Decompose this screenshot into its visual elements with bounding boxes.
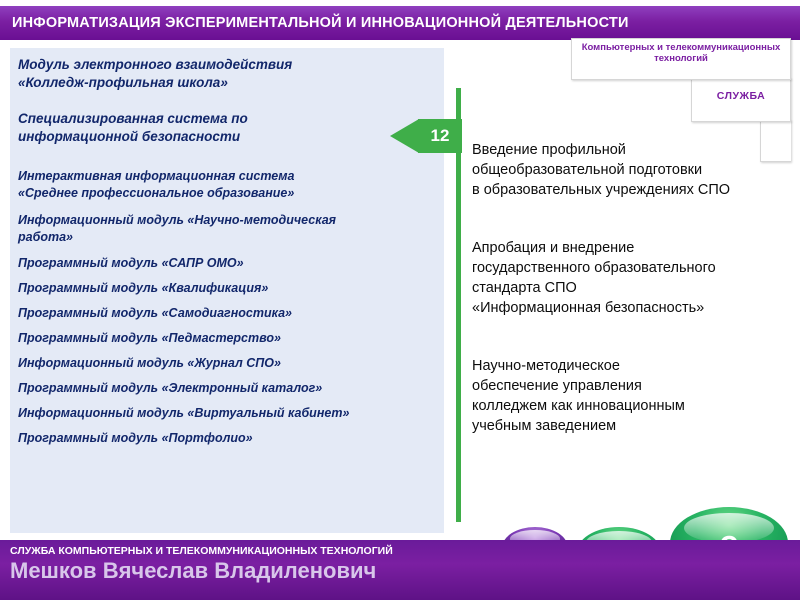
- goal-item: Научно-методическое обеспечение управлен…: [472, 356, 792, 436]
- goal-item: Введение профильной общеобразовательной …: [472, 140, 792, 200]
- technologies-label: Компьютерных и телекоммуникационных техн…: [572, 39, 790, 64]
- modules-list: Модуль электронного взаимодействия «Колл…: [18, 56, 438, 447]
- list-item: Программный модуль «Самодиагностика»: [18, 305, 438, 322]
- list-item: Информационный модуль «Виртуальный кабин…: [18, 405, 438, 422]
- top-right-box-service: СЛУЖБА: [691, 78, 791, 122]
- goal-item: Апробация и внедрение государственного о…: [472, 238, 792, 318]
- goals-column: Введение профильной общеобразовательной …: [472, 140, 792, 436]
- page-title: ИНФОРМАТИЗАЦИЯ ЭКСПЕРИМЕНТАЛЬНОЙ И ИННОВ…: [0, 15, 629, 31]
- vertical-divider: [456, 88, 461, 522]
- list-item: Программный модуль «Педмастерство»: [18, 330, 438, 347]
- list-item: Информационный модуль «Журнал СПО»: [18, 355, 438, 372]
- list-item: Программный модуль «Портфолио»: [18, 430, 438, 447]
- slide-title-bar: ИНФОРМАТИЗАЦИЯ ЭКСПЕРИМЕНТАЛЬНОЙ И ИННОВ…: [0, 6, 800, 40]
- list-item: Программный модуль «САПР ОМО»: [18, 255, 438, 272]
- left-arrow-icon: [390, 119, 419, 153]
- list-item: Интерактивная информационная система «Ср…: [18, 168, 438, 202]
- step-number: 12: [431, 126, 450, 146]
- list-item: Специализированная система по информацио…: [18, 110, 438, 146]
- top-right-box-technologies: Компьютерных и телекоммуникационных техн…: [571, 38, 791, 80]
- list-item: Программный модуль «Квалификация»: [18, 280, 438, 297]
- list-item: Модуль электронного взаимодействия «Колл…: [18, 56, 438, 92]
- footer-author-name: Мешков Вячеслав Владиленович: [10, 558, 376, 584]
- footer-bar: СЛУЖБА КОМПЬЮТЕРНЫХ И ТЕЛЕКОММУНИКАЦИОНН…: [0, 540, 800, 600]
- step-badge: 12: [390, 119, 462, 153]
- list-item: Информационный модуль «Научно-методическ…: [18, 212, 438, 246]
- service-label: СЛУЖБА: [692, 79, 790, 102]
- list-item: Программный модуль «Электронный каталог»: [18, 380, 438, 397]
- slide-root: ИНФОРМАТИЗАЦИЯ ЭКСПЕРИМЕНТАЛЬНОЙ И ИННОВ…: [0, 0, 800, 600]
- footer-service-name: СЛУЖБА КОМПЬЮТЕРНЫХ И ТЕЛЕКОММУНИКАЦИОНН…: [10, 545, 393, 557]
